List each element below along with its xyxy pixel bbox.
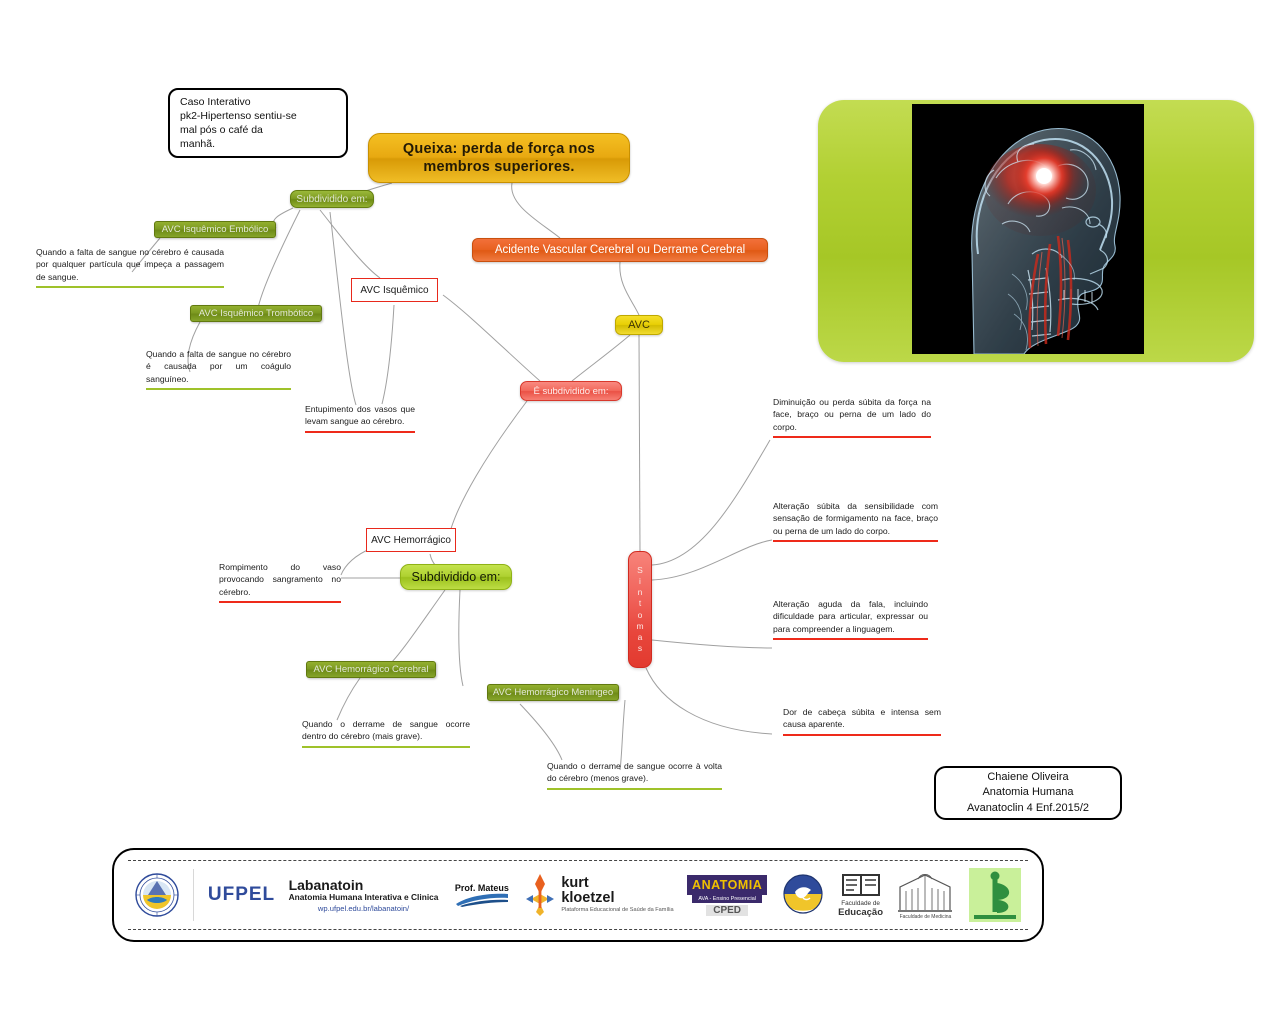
- anatomia-subtitle: AVA - Ensino Presencial: [692, 895, 762, 903]
- desc-isquemico-definicao: Entupimento dos vasos que levam sangue a…: [305, 403, 415, 433]
- link-sintomas-s1: [652, 440, 770, 565]
- queixa-root-node[interactable]: Queixa: perda de força nos membros super…: [368, 133, 630, 183]
- fae-subtitle: Faculdade de: [841, 900, 880, 907]
- ufpel-text: UFPEL: [208, 884, 275, 906]
- desc-text: Alteração súbita da sensibilidade com se…: [773, 501, 938, 536]
- anatomia-cped-logo: ANATOMIA AVA - Ensino Presencial CPED: [687, 875, 767, 916]
- fae-title: Educação: [838, 907, 883, 918]
- footer-logo-strip: UFPEL Labanatoin Anatomia Humana Interat…: [128, 860, 1028, 930]
- brain-image-frame: [818, 100, 1254, 362]
- underline: [773, 540, 938, 542]
- link-top-embolico: [273, 208, 293, 228]
- ufpel-seal-icon: [134, 870, 180, 920]
- desc-text: Alteração aguda da fala, incluindo dific…: [773, 599, 928, 634]
- desc-isquemico-embolico: Quando a falta de sangue no cérebro é ca…: [36, 246, 224, 288]
- link-subdivhemo-meningeo: [459, 590, 463, 686]
- link-avc-subdiv: [572, 335, 630, 381]
- caso-line-4: manhã.: [180, 138, 338, 152]
- footer-logo-box: UFPEL Labanatoin Anatomia Humana Interat…: [112, 848, 1044, 942]
- sintomas-letter: n: [638, 587, 643, 598]
- link-isqbox-entupimento: [382, 305, 394, 404]
- mindmap-canvas: Caso Interativo pk2-Hipertenso sentiu-se…: [0, 0, 1280, 1024]
- sintomas-letter: s: [638, 643, 642, 654]
- kurt-line-1: kurt: [561, 876, 673, 891]
- desc-text: Quando a falta de sangue no cérebro é ca…: [36, 247, 224, 282]
- labanatoin-title: Labanatoin: [289, 877, 364, 893]
- caso-line-2: pk2-Hipertenso sentiu-se: [180, 110, 338, 124]
- logo-divider: [193, 869, 194, 921]
- subdividido-em-top-node[interactable]: Subdividido em:: [290, 190, 374, 208]
- desc-hemorragico-cerebral: Quando o derrame de sangue ocorre dentro…: [302, 718, 470, 748]
- desc-hemorragico-meningeo: Quando o derrame de sangue ocorre à volt…: [547, 760, 722, 790]
- avc-isquemico-trombotico-node[interactable]: AVC Isquêmico Trombótico: [190, 305, 322, 322]
- link-top-entupimento: [330, 212, 356, 405]
- link-banner-avc: [620, 262, 639, 315]
- swoosh-icon: [454, 893, 510, 907]
- underline: [783, 734, 941, 736]
- sintoma-item-1: Diminuição ou perda súbita da força na f…: [773, 396, 931, 438]
- sintomas-letter: a: [638, 632, 643, 643]
- desc-text: Dor de cabeça súbita e intensa sem causa…: [783, 707, 941, 729]
- sintomas-node[interactable]: S i n t o m a s: [628, 551, 652, 668]
- link-sintomas-s2: [652, 540, 772, 580]
- link-top-isqbox: [320, 210, 380, 278]
- avc-hemorragico-cerebral-node[interactable]: AVC Hemorrágico Cerebral: [306, 661, 436, 678]
- caso-interativo-box: Caso Interativo pk2-Hipertenso sentiu-se…: [168, 88, 348, 158]
- link-subdivhemo-cerebral: [388, 590, 445, 666]
- underline: [219, 601, 341, 603]
- labanatoin-logo: Labanatoin Anatomia Humana Interativa e …: [289, 877, 439, 913]
- sintoma-item-2: Alteração súbita da sensibilidade com se…: [773, 500, 938, 542]
- desc-text: Quando o derrame de sangue ocorre à volt…: [547, 761, 722, 783]
- desc-text: Rompimento do vaso provocando sangrament…: [219, 562, 341, 597]
- book-icon: [841, 872, 881, 898]
- kurt-kloetzel-logo: kurt kloetzel Plataforma Educacional de …: [523, 872, 673, 918]
- avc-banner-node[interactable]: Acidente Vascular Cerebral ou Derrame Ce…: [472, 238, 768, 262]
- link-cerebral-desc: [337, 678, 360, 720]
- link-avc-sintomas: [639, 335, 640, 551]
- desc-text: Quando a falta de sangue no cérebro é ca…: [146, 349, 291, 384]
- avc-hemorragico-box[interactable]: AVC Hemorrágico: [366, 528, 456, 552]
- underline: [146, 388, 291, 390]
- author-course: Anatomia Humana: [982, 785, 1073, 800]
- labanatoin-url[interactable]: wp.ufpel.edu.br/labanatoin/: [318, 905, 409, 914]
- avc-isquemico-box[interactable]: AVC Isquêmico: [351, 278, 438, 302]
- faculdade-medicina-logo: Faculdade de Medicina: [896, 871, 954, 920]
- ufpel-wordmark: UFPEL: [208, 884, 275, 906]
- link-queixa-banner: [512, 183, 560, 238]
- link-sintomas-s4: [646, 668, 772, 734]
- link-subdiv-isquemico: [443, 295, 540, 381]
- kurt-subtitle: Plataforma Educacional de Saúde da Famíl…: [561, 908, 673, 914]
- underline: [773, 436, 931, 438]
- sintomas-letter: t: [639, 598, 641, 609]
- building-icon: [896, 871, 954, 913]
- anatomia-banner: ANATOMIA: [687, 875, 767, 895]
- link-meningeo-desc: [520, 704, 562, 760]
- ib-logo-icon: [968, 867, 1022, 923]
- caso-line-3: mal pós o café da: [180, 124, 338, 138]
- link-sintomas-s3: [652, 640, 772, 648]
- prof-mateus-text: Prof. Mateus: [455, 883, 509, 893]
- underline: [36, 286, 224, 288]
- e-subdividido-em-node[interactable]: É subdividido em:: [520, 381, 622, 401]
- link-subdiv-hemorragico: [448, 401, 527, 540]
- kurt-line-2: kloetzel: [561, 891, 673, 906]
- desc-text: Diminuição ou perda súbita da força na f…: [773, 397, 931, 432]
- ufpel-dove-seal-icon: [781, 872, 825, 918]
- caso-line-1: Caso Interativo: [180, 96, 338, 110]
- sintoma-item-4: Dor de cabeça súbita e intensa sem causa…: [783, 706, 941, 736]
- brain-xray-image: [912, 104, 1144, 354]
- desc-hemorragico-definicao: Rompimento do vaso provocando sangrament…: [219, 561, 341, 603]
- link-hemo-rompimento: [341, 548, 372, 575]
- sintoma-item-3: Alteração aguda da fala, incluindo dific…: [773, 598, 928, 640]
- prof-mateus-logo: Prof. Mateus: [454, 883, 510, 907]
- underline: [547, 788, 722, 790]
- author-class: Avanatoclin 4 Enf.2015/2: [967, 801, 1089, 816]
- desc-text: Entupimento dos vasos que levam sangue a…: [305, 404, 415, 426]
- subdividido-em-hemo-node[interactable]: Subdividido em:: [400, 564, 512, 590]
- avc-pill-node[interactable]: AVC: [615, 315, 663, 335]
- author-name: Chaiene Oliveira: [987, 770, 1068, 785]
- underline: [305, 431, 415, 433]
- labanatoin-subtitle: Anatomia Humana Interativa e Clinica: [289, 893, 439, 903]
- avc-isquemico-embolico-node[interactable]: AVC Isquêmico Embólico: [154, 221, 276, 238]
- avc-hemorragico-meningeo-node[interactable]: AVC Hemorrágico Meningeo: [487, 684, 619, 701]
- anatomia-text: ANATOMIA: [692, 878, 762, 892]
- sintomas-letter: o: [638, 610, 643, 621]
- fmedicina-caption: Faculdade de Medicina: [900, 914, 952, 920]
- cped-text: CPED: [706, 905, 748, 916]
- underline: [773, 638, 928, 640]
- sintomas-letter: m: [636, 621, 643, 632]
- author-box: Chaiene Oliveira Anatomia Humana Avanato…: [934, 766, 1122, 820]
- kurt-emblem-icon: [523, 872, 557, 918]
- desc-text: Quando o derrame de sangue ocorre dentro…: [302, 719, 470, 741]
- faculdade-educacao-logo: Faculdade de Educação: [838, 872, 883, 918]
- desc-isquemico-trombotico: Quando a falta de sangue no cérebro é ca…: [146, 348, 291, 390]
- underline: [302, 746, 470, 748]
- sintomas-letter: i: [639, 576, 641, 587]
- sintomas-letter: S: [637, 565, 643, 576]
